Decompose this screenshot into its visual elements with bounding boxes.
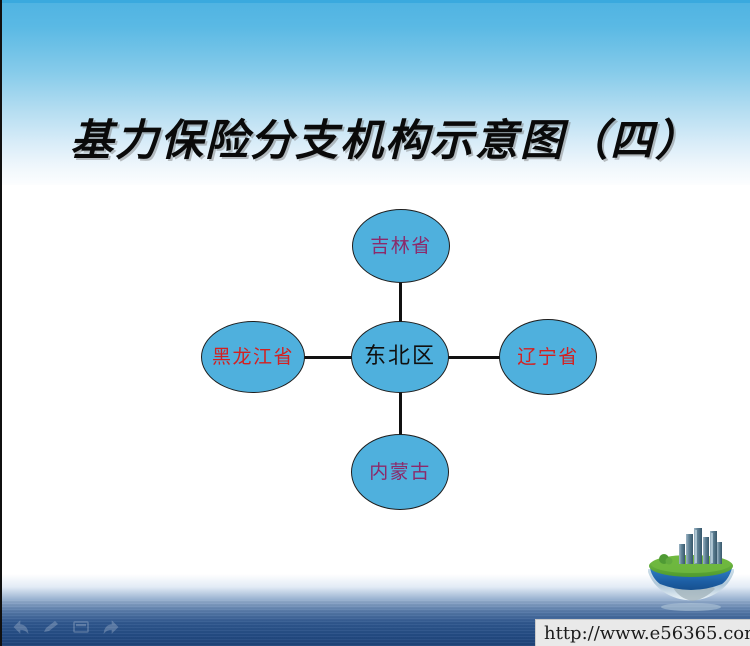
slide-menu-icon[interactable] [72, 620, 90, 634]
node-heilongjiang[interactable]: 黑龙江省 [201, 321, 305, 393]
node-heilongjiang-label: 黑龙江省 [212, 348, 294, 367]
previous-arrow-icon[interactable] [12, 620, 30, 634]
watermark-url-bar[interactable]: http://www.e56365.com [535, 619, 750, 646]
node-liaoning[interactable]: 辽宁省 [499, 319, 597, 395]
earth-globe-icon [642, 528, 740, 612]
watermark-url-text: http://www.e56365.com [536, 623, 750, 644]
node-dongbei-region[interactable]: 东北区 [351, 321, 449, 393]
connector-center-to-bottom [399, 390, 402, 436]
presentation-slide: 基力保险分支机构示意图（四） 吉林省 黑龙江省 东北区 辽宁省 内蒙古 [0, 0, 750, 646]
connector-center-to-right [446, 356, 501, 359]
node-jilin-label: 吉林省 [370, 237, 432, 256]
pen-icon[interactable] [42, 620, 60, 634]
node-dongbei-region-label: 东北区 [364, 346, 436, 368]
node-liaoning-label: 辽宁省 [517, 348, 579, 367]
next-arrow-icon[interactable] [102, 620, 120, 634]
slideshow-nav-controls[interactable] [12, 620, 120, 634]
org-diagram: 吉林省 黑龙江省 东北区 辽宁省 内蒙古 [2, 0, 750, 646]
node-inner-mongolia[interactable]: 内蒙古 [351, 434, 449, 510]
connector-center-to-left [301, 356, 355, 359]
connector-center-to-top [399, 280, 402, 326]
node-inner-mongolia-label: 内蒙古 [369, 463, 431, 482]
node-jilin[interactable]: 吉林省 [352, 209, 450, 283]
